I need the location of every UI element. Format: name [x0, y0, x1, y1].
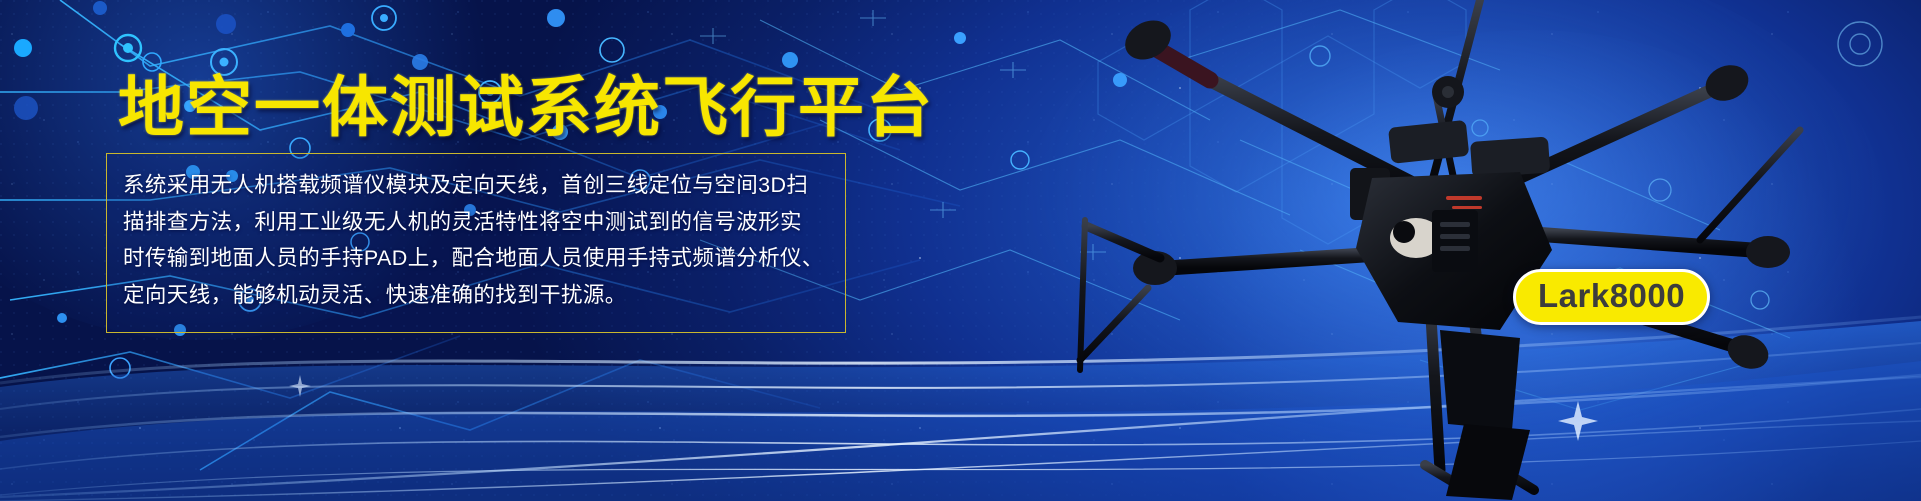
page-title: 地空一体测试系统飞行平台	[118, 74, 934, 140]
description-line-2: 描排查方法，利用工业级无人机的灵活特性将空中测试到的信号波形实	[123, 204, 827, 241]
description-line-4: 定向天线，能够机动灵活、快速准确的找到干扰源。	[123, 277, 827, 314]
promo-banner: 地空一体测试系统飞行平台 系统采用无人机搭载频谱仪模块及定向天线，首创三线定位与…	[0, 0, 1921, 501]
description-line-1: 系统采用无人机搭载频谱仪模块及定向天线，首创三线定位与空间3D扫	[123, 167, 827, 204]
description-box: 系统采用无人机搭载频谱仪模块及定向天线，首创三线定位与空间3D扫 描排查方法，利…	[106, 153, 846, 333]
model-badge: Lark8000	[1513, 269, 1710, 325]
description-line-3: 时传输到地面人员的手持PAD上，配合地面人员使用手持式频谱分析仪、	[123, 240, 827, 277]
